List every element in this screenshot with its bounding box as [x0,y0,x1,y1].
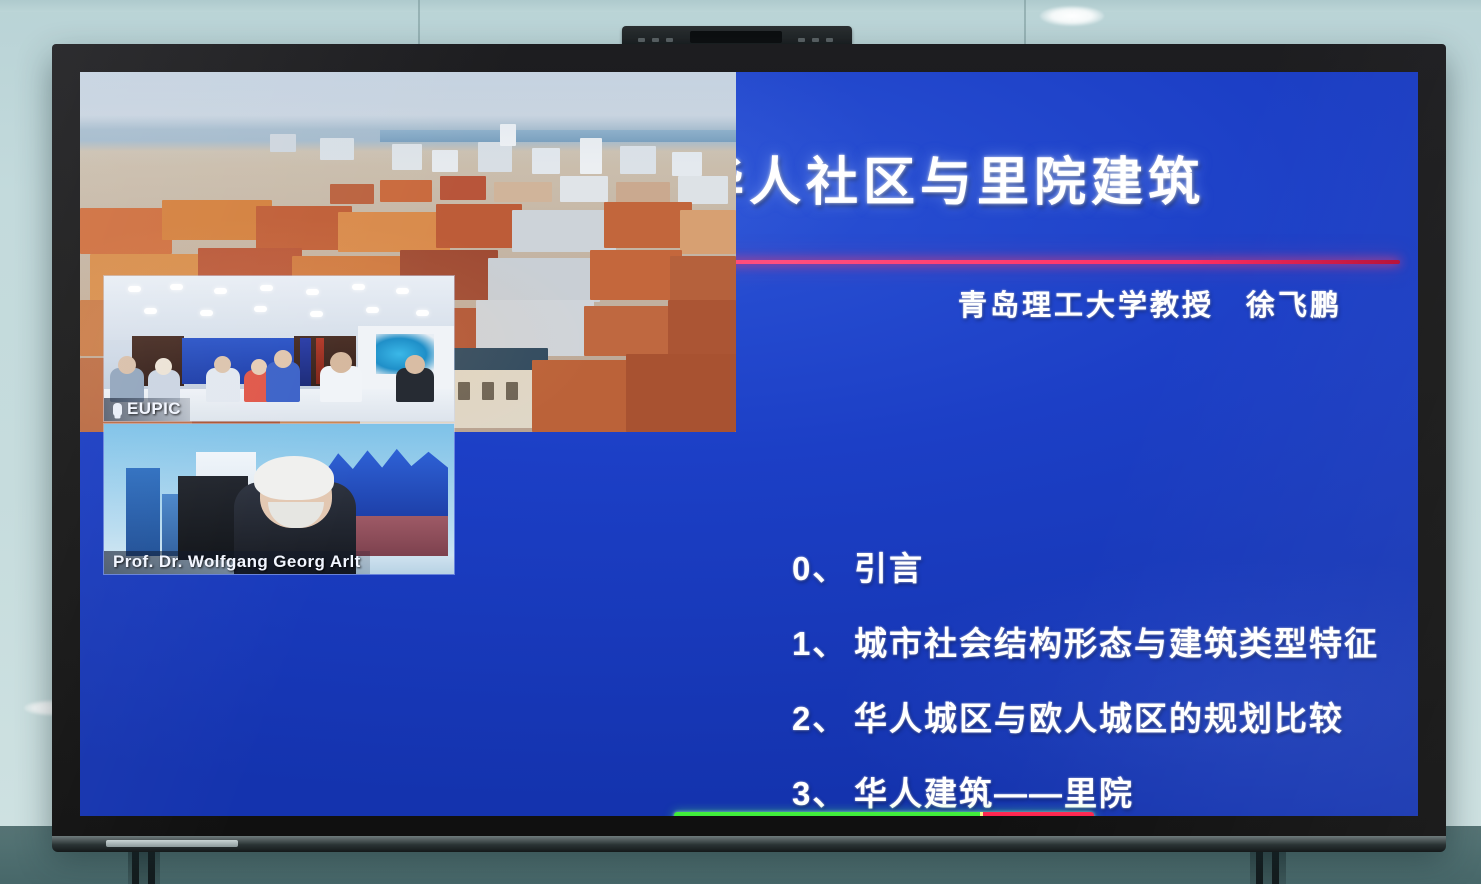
microphone-icon [113,403,122,416]
presentation-screen: 青岛德租时期的华人社区与里院建筑 青岛理工大学教授 徐飞鹏 0、 引言 1、 城… [80,72,1418,816]
agenda-item-number: 1、 [792,617,854,665]
agenda-item-label: 华人建筑——里院 [854,767,1134,815]
camera-lens [690,31,782,43]
video-tile-arlt[interactable]: Prof. Dr. Wolfgang Georg Arlt [104,424,454,574]
camera-mic-dot [826,38,833,42]
agenda-item: 3、 华人建筑——里院 [792,767,1412,815]
agenda-item-number: 0、 [792,542,854,590]
agenda-item: 2、 华人城区与欧人城区的规划比较 [792,692,1412,740]
video-tile-label: Prof. Dr. Wolfgang Georg Arlt [104,551,370,574]
screen-share-toolbar[interactable]: 你正在共享屏幕 ❚❚ ✓ 停止共享 [674,812,1094,816]
agenda-item: 0、 引言 [792,542,1412,590]
camera-mic-dot [812,38,819,42]
ceiling-light-reflection [1040,6,1104,26]
camera-mic-dot [652,38,659,42]
stop-share-label: 停止共享 [1014,816,1080,817]
ceiling-band [0,0,1481,12]
stop-share-button[interactable]: 停止共享 [983,812,1094,816]
video-tile-name: Prof. Dr. Wolfgang Georg Arlt [113,552,361,571]
camera-mic-dot [798,38,805,42]
slide-presenter: 青岛理工大学教授 徐飞鹏 [900,282,1400,324]
agenda-item-number: 2、 [792,692,854,740]
wall-mounted-display: 青岛德租时期的华人社区与里院建筑 青岛理工大学教授 徐飞鹏 0、 引言 1、 城… [52,44,1446,844]
video-tile-name: EUPIC [127,399,181,418]
share-status-text: 你正在共享屏幕 [708,816,918,817]
speaker-hair [254,456,334,500]
agenda-item-label: 华人城区与欧人城区的规划比较 [854,692,1344,740]
agenda-item-label: 城市社会结构形态与建筑类型特征 [854,617,1379,665]
room-flag [300,338,311,386]
display-stand-tab [106,840,238,847]
share-status-group: 你正在共享屏幕 ❚❚ ✓ [674,812,980,816]
video-tile-label: EUPIC [104,398,190,421]
sea-horizon [380,130,736,142]
agenda-item-label: 引言 [854,542,924,590]
agenda-item-number: 3、 [792,767,854,815]
video-tile-eupic[interactable]: EUPIC [104,276,454,421]
slide-agenda: 0、 引言 1、 城市社会结构形态与建筑类型特征 2、 华人城区与欧人城区的规划… [792,542,1412,816]
display-bottom-trim [52,836,1446,852]
agenda-item: 1、 城市社会结构形态与建筑类型特征 [792,617,1412,665]
camera-mic-dot [666,38,673,42]
camera-mic-dot [638,38,645,42]
hamburg-tower [126,468,160,556]
meeting-room-scene: 青岛德租时期的华人社区与里院建筑 青岛理工大学教授 徐飞鹏 0、 引言 1、 城… [0,0,1481,884]
